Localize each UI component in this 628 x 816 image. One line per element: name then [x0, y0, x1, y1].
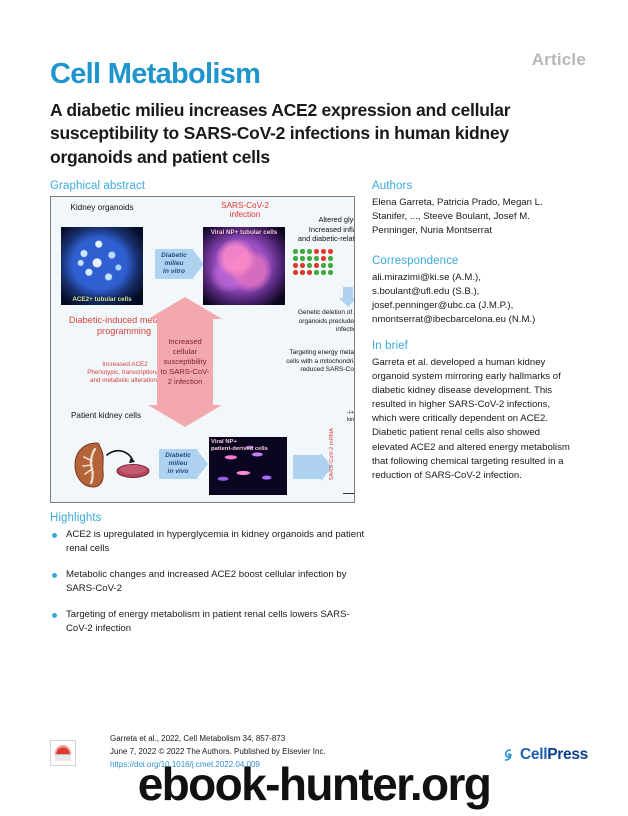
heatmap-dot — [300, 263, 305, 268]
arrow-invivo-line1: Diabetic — [165, 452, 191, 460]
article-type-tag: Article — [532, 50, 586, 70]
arrow-invivo-line3: in vivo — [165, 468, 191, 476]
highlights-heading: Highlights — [50, 512, 102, 524]
heatmap-dot — [321, 256, 326, 261]
kidney-illustration-icon — [71, 439, 151, 491]
image-patient-derived-cells: Viral NP+ patient-derived cells — [209, 437, 287, 495]
correspondence-line-4[interactable]: nmontserrat@ibecbarcelona.eu (N.M.) — [372, 313, 572, 327]
heatmap-dot — [328, 270, 333, 275]
arrow-down-to-genetic-deletion — [337, 287, 355, 307]
bar-chart-legend: -/+ Mitochondrial kinase inhibitor — [347, 410, 355, 424]
heatmap-dot — [314, 270, 319, 275]
highlights-list: ACE2 is upregulated in hyperglycemia in … — [50, 528, 370, 647]
highlight-text: Metabolic changes and increased ACE2 boo… — [66, 568, 370, 596]
heatmap-dot — [300, 249, 305, 254]
label-kidney-organoids: Kidney organoids — [59, 203, 145, 212]
label-sars-infection: SARS-CoV-2 infection — [201, 201, 289, 220]
correspondence-heading: Correspondence — [372, 255, 572, 267]
bullet-icon — [52, 533, 57, 538]
arrow-invitro-line3: in vitro — [161, 268, 187, 276]
text-altered-pathways: Altered glycolysis Increased inflammatio… — [291, 215, 355, 244]
arrow-to-barchart — [293, 455, 321, 479]
altered-line1: Altered glycolysis — [291, 215, 355, 225]
bar-legend-line1: -/+ Mitochondrial — [347, 410, 355, 417]
highlight-item-1: ACE2 is upregulated in hyperglycemia in … — [50, 528, 370, 556]
graphical-abstract-figure: Kidney organoids ACE2+ tubular cells Dia… — [50, 196, 355, 503]
arrow-invitro-line2: milieu — [161, 260, 187, 268]
highlight-text: ACE2 is upregulated in hyperglycemia in … — [66, 528, 370, 556]
caption-patient-derived-cells: Viral NP+ patient-derived cells — [211, 439, 285, 453]
highlight-text: Targeting of energy metabolism in patien… — [66, 608, 370, 636]
authors-heading: Authors — [372, 180, 572, 192]
page-title: A diabetic milieu increases ACE2 express… — [50, 99, 570, 169]
in-brief-heading: In brief — [372, 340, 572, 352]
heatmap-dot — [300, 256, 305, 261]
heatmap-dot — [321, 270, 326, 275]
heatmap-dot — [293, 263, 298, 268]
bar-legend-line2: kinase inhibitor — [347, 417, 355, 424]
site-watermark: ebook-hunter.org — [0, 757, 628, 811]
label-sars-line2: infection — [201, 210, 289, 219]
heatmap-dot — [293, 270, 298, 275]
caption-viral-np-tubular-cells: Viral NP+ tubular cells — [203, 229, 285, 236]
bar-chart-plot-area: -+ — [343, 442, 355, 494]
heatmap-dot — [314, 249, 319, 254]
heatmap-dot — [314, 256, 319, 261]
arrow-diabetic-milieu-in-vitro: Diabetic milieu in vitro — [155, 249, 193, 279]
correspondence-emails: ali.mirazimi@ki.se (A.M.),s.boulant@ufl.… — [372, 271, 572, 327]
heatmap-dot — [328, 256, 333, 261]
cap-pdc-line2: patient-derived cells — [211, 446, 285, 453]
arrow-diabetic-milieu-in-vivo: Diabetic milieu in vivo — [159, 449, 197, 479]
correspondence-line-1[interactable]: ali.mirazimi@ki.se (A.M.), — [372, 271, 572, 285]
bullet-icon — [52, 613, 57, 618]
heatmap-dot — [328, 249, 333, 254]
bullet-icon — [52, 573, 57, 578]
label-patient-kidney-cells: Patient kidney cells — [63, 411, 149, 420]
in-brief-text: Garreta et al. developed a human kidney … — [372, 356, 572, 483]
heatmap-dot — [307, 270, 312, 275]
highlight-item-3: Targeting of energy metabolism in patien… — [50, 608, 370, 636]
heatmap-row-3 — [293, 263, 355, 268]
heatmap-dot — [307, 263, 312, 268]
arrow-head-down — [148, 405, 222, 427]
heatmap-dot — [321, 249, 326, 254]
caption-ace2-tubular-cells: ACE2+ tubular cells — [61, 296, 143, 303]
heatmap-dot — [321, 263, 326, 268]
journal-masthead: Cell Metabolism — [50, 58, 260, 91]
altered-line2: Increased inflammation — [291, 225, 355, 235]
image-infected-organoid: Viral NP+ tubular cells — [203, 227, 285, 305]
text-genetic-deletion: Genetic deletion of ACE2 in kidney organ… — [289, 309, 355, 335]
heatmap-dot — [314, 263, 319, 268]
altered-line3: and diabetic-related pathways — [291, 234, 355, 244]
heatmap-row-1 — [293, 249, 355, 254]
highlight-item-2: Metabolic changes and increased ACE2 boo… — [50, 568, 370, 596]
correspondence-line-3[interactable]: josef.penninger@ubc.ca (J.M.P.), — [372, 299, 572, 313]
heatmap-dot — [300, 270, 305, 275]
bar-chart-ylabel: SARS-CoV-2 mRNA — [329, 428, 335, 481]
arrow-body-text: Increased cellular susceptibility to SAR… — [157, 319, 213, 405]
heatmap-row-2 — [293, 256, 355, 261]
bar-chart-sars-mrna: -/+ Mitochondrial kinase inhibitor SARS-… — [331, 422, 355, 498]
heatmap-dot-grid — [293, 249, 355, 277]
authors-list: Elena Garreta, Patricia Prado, Megan L. … — [372, 196, 572, 238]
heatmap-dot — [307, 249, 312, 254]
arrow-invivo-line2: milieu — [165, 460, 191, 468]
heatmap-row-4 — [293, 270, 355, 275]
text-targeting-energy: Targeting energy metabolism of kidney ce… — [283, 349, 355, 375]
heatmap-dot — [293, 256, 298, 261]
correspondence-line-2[interactable]: s.boulant@ufl.edu (S.B.), — [372, 285, 572, 299]
citation-line-1: Garreta et al., 2022, Cell Metabolism 34… — [110, 733, 326, 746]
arrow-invitro-line1: Diabetic — [161, 252, 187, 260]
label-sars-line1: SARS-CoV-2 — [201, 201, 289, 210]
arrow-head-up — [148, 297, 222, 319]
journal-cover-page: Article Cell Metabolism A diabetic milie… — [0, 0, 628, 816]
heatmap-dot — [328, 263, 333, 268]
graphical-abstract-heading: Graphical abstract — [50, 180, 145, 192]
image-kidney-organoid-ace2: ACE2+ tubular cells — [61, 227, 143, 305]
heatmap-dot — [293, 249, 298, 254]
heatmap-dot — [307, 256, 312, 261]
arrow-increased-susceptibility: Increased cellular susceptibility to SAR… — [148, 297, 222, 427]
